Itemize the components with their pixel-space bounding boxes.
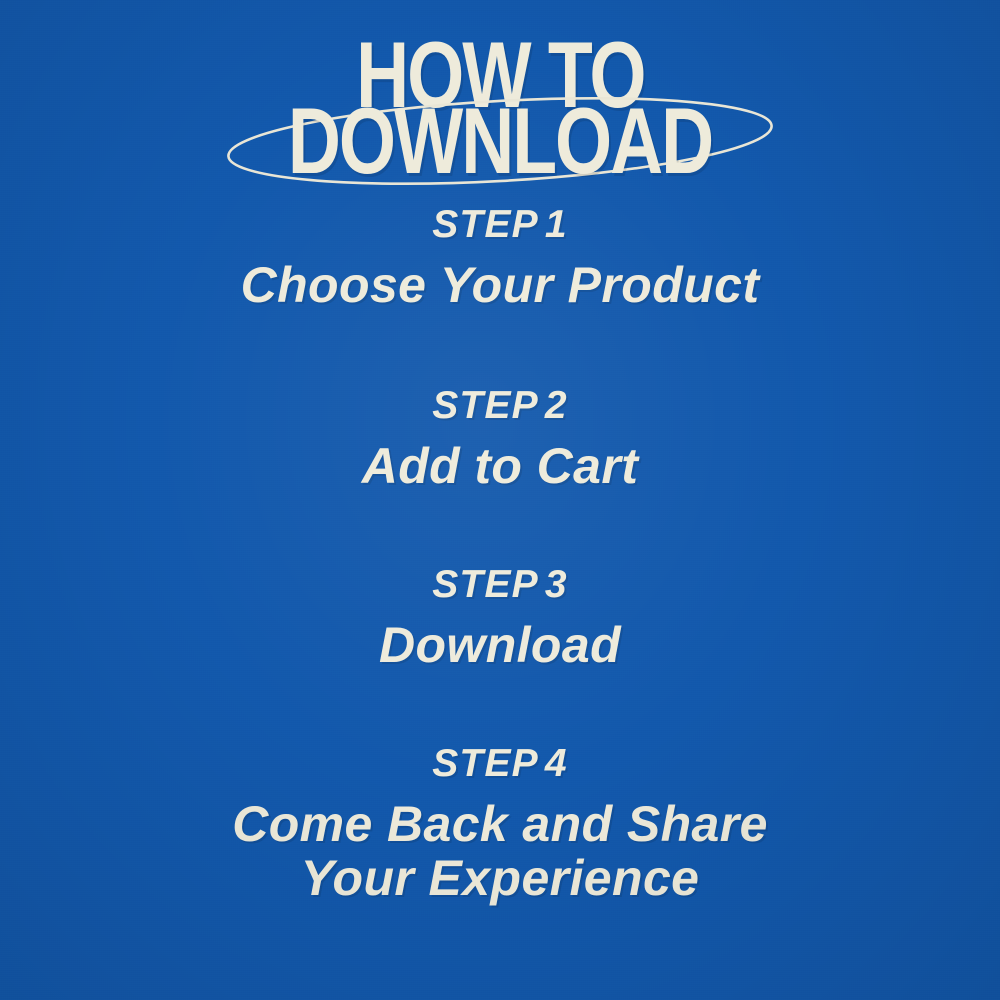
title-block: HOW TO DOWNLOAD (0, 34, 1000, 194)
step-label-word-1: STEP (432, 203, 539, 246)
title-line-download: DOWNLOAD (0, 106, 1000, 178)
step-item-4: STEP4 Come Back and Share Your Experienc… (0, 744, 1000, 905)
steps-list: STEP1 Choose Your Product STEP2 Add to C… (0, 205, 1000, 905)
step-title-line-1: Add to Cart (0, 439, 1000, 493)
step-title-line-2: Your Experience (0, 851, 1000, 905)
how-to-download-poster: HOW TO DOWNLOAD STEP1 Choose Your Produc… (0, 0, 1000, 1000)
step-title-line-1: Come Back and Share (0, 797, 1000, 851)
step-label-4: STEP4 (0, 744, 1000, 783)
step-item-1: STEP1 Choose Your Product (0, 205, 1000, 312)
step-title-2: Add to Cart (0, 439, 1000, 493)
step-label-3: STEP3 (0, 565, 1000, 604)
step-number-1: 1 (545, 203, 568, 246)
step-label-2: STEP2 (0, 386, 1000, 425)
step-label-1: STEP1 (0, 205, 1000, 244)
step-title-1: Choose Your Product (0, 258, 1000, 312)
step-gap-1 (0, 312, 1000, 386)
step-item-3: STEP3 Download (0, 565, 1000, 672)
step-label-word-4: STEP (432, 742, 539, 785)
step-label-word-3: STEP (432, 563, 539, 606)
step-title-line-1: Choose Your Product (0, 258, 1000, 312)
step-number-3: 3 (545, 563, 568, 606)
step-gap-3 (0, 672, 1000, 744)
step-title-line-1: Download (0, 618, 1000, 672)
step-item-2: STEP2 Add to Cart (0, 386, 1000, 493)
step-title-3: Download (0, 618, 1000, 672)
title-download-text: DOWNLOAD (288, 95, 712, 189)
step-number-4: 4 (545, 742, 568, 785)
step-label-word-2: STEP (432, 384, 539, 427)
step-gap-2 (0, 493, 1000, 565)
step-title-4: Come Back and Share Your Experience (0, 797, 1000, 905)
step-number-2: 2 (545, 384, 568, 427)
